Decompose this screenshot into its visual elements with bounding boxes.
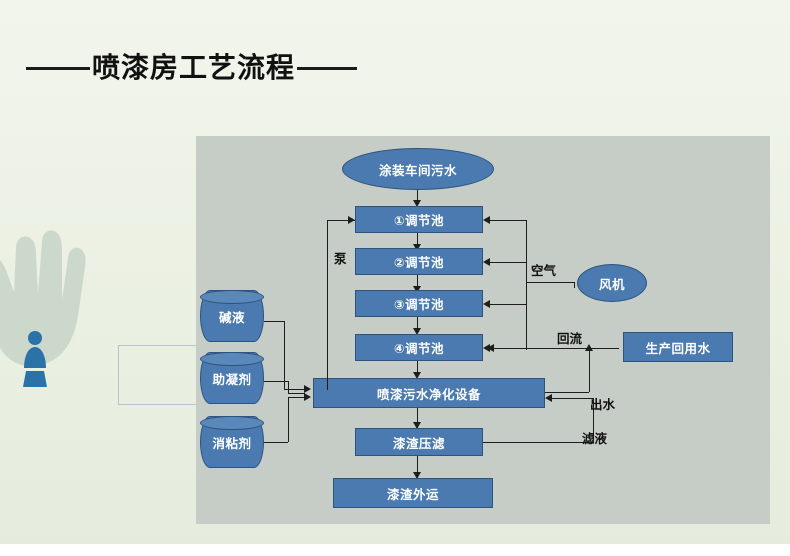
edge-air-tank2 (487, 262, 526, 263)
edge-label-return: 回流 (557, 328, 582, 347)
node-filter-press[interactable]: 漆渣压滤 (355, 428, 483, 456)
arrowhead-air-tank2 (483, 258, 490, 266)
edge-coagulant-in (288, 393, 305, 394)
edge-return (491, 348, 619, 349)
node-source[interactable]: 涂装车间污水 (342, 148, 494, 190)
edge-coagulant-drop (288, 381, 289, 393)
node-tank1[interactable]: ①调节池 (355, 206, 483, 233)
process-flow-diagram: 涂装车间污水 ①调节池 ②调节池 ③调节池 ④调节池 喷漆污水净化设备 漆渣压滤… (196, 136, 770, 524)
edge-label-air: 空气 (531, 260, 556, 279)
arrowhead-filtrate (545, 394, 552, 402)
edge-effluent-h (545, 392, 589, 393)
page-title-text: 喷漆房工艺流程 (90, 54, 297, 82)
node-purifier[interactable]: 喷漆污水净化设备 (313, 378, 545, 408)
title-rule-left (26, 67, 90, 70)
edge-air-tank1 (487, 220, 526, 221)
edge-label-pump: 泵 (334, 248, 347, 267)
edge-alkali-drop (284, 321, 285, 389)
figure-graphic (22, 330, 48, 390)
edge-alkali-out (264, 321, 284, 322)
node-blower[interactable]: 风机 (577, 264, 647, 302)
edge-tackifier-out (264, 442, 288, 443)
node-tackifier[interactable]: 消粘剂 (200, 416, 264, 468)
edge-air-vertical (526, 220, 527, 350)
hand-graphic (0, 208, 103, 388)
page-title: 喷漆房工艺流程 (26, 48, 357, 88)
edge-pump-vertical (327, 220, 328, 390)
arrowhead-effluent (585, 344, 593, 351)
slide-page: 喷漆房工艺流程 涂装车间污水 ①调节池 ②调节池 (0, 0, 790, 556)
arrowhead-air-tank1 (483, 216, 490, 224)
arrowhead-air-tank3 (483, 300, 490, 308)
arrowhead-pump-tank1 (348, 216, 355, 224)
edge-tackifier-in (288, 397, 305, 398)
edge-effluent-v (589, 350, 590, 392)
node-coagulant[interactable]: 助凝剂 (200, 352, 264, 404)
node-tank2[interactable]: ②调节池 (355, 248, 483, 275)
node-tank3[interactable]: ③调节池 (355, 290, 483, 317)
edge-blower-drop (574, 282, 575, 288)
edge-filtrate-h-top (483, 442, 593, 443)
node-tank4[interactable]: ④调节池 (355, 334, 483, 361)
arrowhead-dosing-purifier (304, 385, 311, 393)
node-reuse-water[interactable]: 生产回用水 (623, 332, 733, 362)
arrowhead-return-tank4 (487, 344, 494, 352)
edge-label-filtrate: 滤液 (582, 428, 607, 447)
edge-blower-to-air-header (526, 282, 574, 283)
node-alkali[interactable]: 碱液 (200, 290, 264, 342)
edge-filtrate-h-return (549, 398, 593, 399)
edge-tackifier-rise (288, 397, 289, 442)
edge-coagulant-out (264, 381, 288, 382)
node-residue-out[interactable]: 漆渣外运 (333, 478, 493, 508)
arrowhead-dosing-purifier-2 (304, 393, 311, 401)
edge-air-tank3 (487, 304, 526, 305)
title-rule-right (297, 67, 357, 70)
page-footer-strip (0, 544, 790, 556)
